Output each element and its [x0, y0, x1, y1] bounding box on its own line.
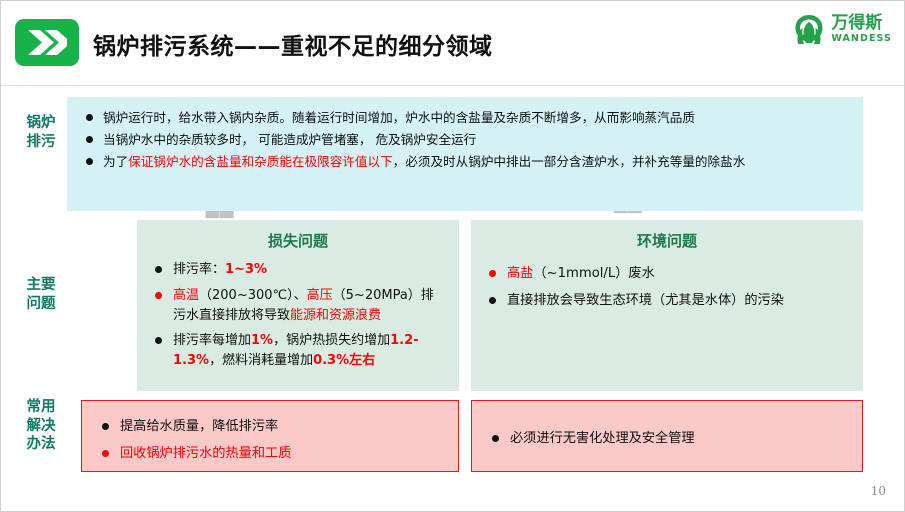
bullet-text: 当锅炉水中的杂质较多时， 可能造成炉管堵塞， 危及锅炉安全运行 [103, 132, 476, 147]
panel-title: 环境问题 [485, 230, 849, 251]
bullet-text: 锅炉运行时，给水带入锅内杂质。随着运行时间增加，炉水中的含盐量及杂质不断增多，从… [103, 110, 695, 125]
panel-solutions-right: 必须进行无害化处理及安全管理 [471, 400, 863, 472]
panel-environment-problems: 环境问题 高盐（~1mmol/L）废水 直接排放会导致生态环境（尤其是水体）的污… [471, 220, 863, 391]
bullet-list: 锅炉运行时，给水带入锅内杂质。随着运行时间增加，炉水中的含盐量及杂质不断增多，从… [83, 108, 847, 171]
company-logo: 万得斯 WANDESS [792, 12, 892, 46]
double-chevron-right-icon [15, 19, 79, 66]
bullet-text: 提高给水质量，降低排污率 [120, 419, 278, 434]
bullet-text: 直接排放会导致生态环境（尤其是水体）的污染 [507, 293, 784, 308]
row-label-boiler-blowdown: 锅炉排污 [15, 114, 67, 151]
bullet-dot-icon [489, 270, 496, 277]
list-item: 必须进行无害化处理及安全管理 [486, 429, 848, 449]
list-item: 提高给水质量，降低排污率 [96, 417, 444, 437]
header-divider [1, 85, 905, 86]
bullet-text: 高温（200~300℃）、高压（5~20MPa）排污水直接排放将导致能源和资源浪… [173, 288, 434, 323]
bullet-dot-icon [155, 337, 162, 344]
bullet-text: 高盐（~1mmol/L）废水 [507, 266, 655, 281]
bullet-dot-icon [492, 435, 499, 442]
bullet-text: 必须进行无害化处理及安全管理 [510, 431, 695, 446]
logo-cn-text: 万得斯 [831, 15, 892, 32]
bullet-list: 高盐（~1mmol/L）废水 直接排放会导致生态环境（尤其是水体）的污染 [485, 264, 849, 311]
bullet-dot-icon [86, 114, 93, 121]
bullet-dot-icon [155, 266, 162, 273]
bullet-list: 必须进行无害化处理及安全管理 [486, 411, 848, 449]
panel-loss-problems: 损失问题 排污率：1~3% 高温（200~300℃）、高压（5~20MPa）排污… [137, 220, 459, 391]
bullet-dot-icon [155, 292, 162, 299]
row-label-main-problems: 主要问题 [15, 276, 67, 313]
list-item: 为了保证锅炉水的含盐量和杂质能在极限容许值以下，必须及时从锅炉中排出一部分含渣炉… [83, 152, 847, 171]
bullet-dot-icon [489, 297, 496, 304]
bullet-dot-icon [86, 158, 93, 165]
list-item: 排污率每增加1%，锅炉热损失约增加1.2-1.3%，燃料消耗量增加0.3%左右 [151, 331, 445, 371]
panel-solutions-left: 提高给水质量，降低排污率 回收锅炉排污水的热量和工质 [81, 400, 459, 472]
bullet-list: 排污率：1~3% 高温（200~300℃）、高压（5~20MPa）排污水直接排放… [151, 260, 445, 371]
list-item: 排污率：1~3% [151, 260, 445, 280]
bullet-dot-icon [86, 136, 93, 143]
bullet-dot-icon [102, 450, 109, 457]
list-item: 回收锅炉排污水的热量和工质 [96, 444, 444, 464]
list-item: 锅炉运行时，给水带入锅内杂质。随着运行时间增加，炉水中的含盐量及杂质不断增多，从… [83, 108, 847, 127]
wandess-sprout-logo-icon [792, 12, 826, 46]
bullet-text: 为了保证锅炉水的含盐量和杂质能在极限容许值以下，必须及时从锅炉中排出一部分含渣炉… [103, 154, 745, 169]
row-label-common-solutions: 常用解决办法 [15, 398, 67, 454]
panel-boiler-blowdown: 锅炉运行时，给水带入锅内杂质。随着运行时间增加，炉水中的含盐量及杂质不断增多，从… [67, 97, 863, 211]
bullet-text: 排污率每增加1%，锅炉热损失约增加1.2-1.3%，燃料消耗量增加0.3%左右 [173, 333, 419, 368]
list-item: 当锅炉水中的杂质较多时， 可能造成炉管堵塞， 危及锅炉安全运行 [83, 130, 847, 149]
bullet-text: 排污率：1~3% [173, 262, 267, 277]
bullet-list: 提高给水质量，降低排污率 回收锅炉排污水的热量和工质 [96, 411, 444, 464]
logo-en-text: WANDESS [831, 34, 892, 44]
slide-header: 锅炉排污系统——重视不足的细分领域 万得斯 WANDESS [1, 1, 905, 87]
slide-canvas: 锅炉排污系统——重视不足的细分领域 万得斯 WANDESS ❝ ❝ 锅炉排污 主… [0, 0, 905, 512]
list-item: 高盐（~1mmol/L）废水 [485, 264, 849, 284]
bullet-dot-icon [102, 423, 109, 430]
logo-wordmark: 万得斯 WANDESS [831, 15, 892, 44]
bullet-text: 回收锅炉排污水的热量和工质 [120, 446, 291, 461]
page-number: 10 [871, 484, 886, 498]
list-item: 高温（200~300℃）、高压（5~20MPa）排污水直接排放将导致能源和资源浪… [151, 286, 445, 326]
panel-title: 损失问题 [151, 230, 445, 251]
list-item: 直接排放会导致生态环境（尤其是水体）的污染 [485, 291, 849, 311]
page-title: 锅炉排污系统——重视不足的细分领域 [93, 27, 493, 61]
